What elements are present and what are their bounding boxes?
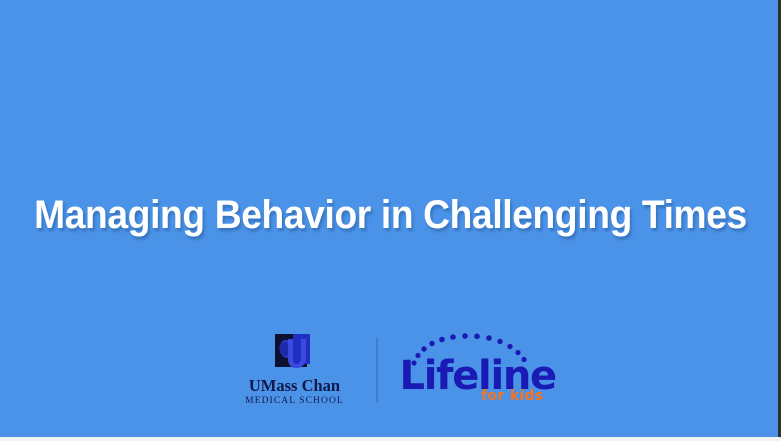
vertical-divider-icon: [376, 337, 378, 403]
logo-lockup: UMass Chan MEDICAL SCHOOL: [0, 328, 781, 412]
bottom-edge-strip: [0, 437, 781, 441]
lifeline-tagline: for kids: [481, 388, 543, 404]
lifeline-logo: Lifeline for kids: [400, 330, 546, 410]
umass-chan-logo: UMass Chan MEDICAL SCHOOL: [236, 334, 354, 407]
umass-chan-subtitle: MEDICAL SCHOOL: [245, 395, 344, 407]
umass-chan-monogram-icon: [274, 334, 316, 374]
page-title: Managing Behavior in Challenging Times: [27, 191, 753, 239]
umass-chan-wordmark: UMass Chan: [249, 377, 340, 395]
title-slide: Managing Behavior in Challenging Times U…: [0, 0, 781, 441]
